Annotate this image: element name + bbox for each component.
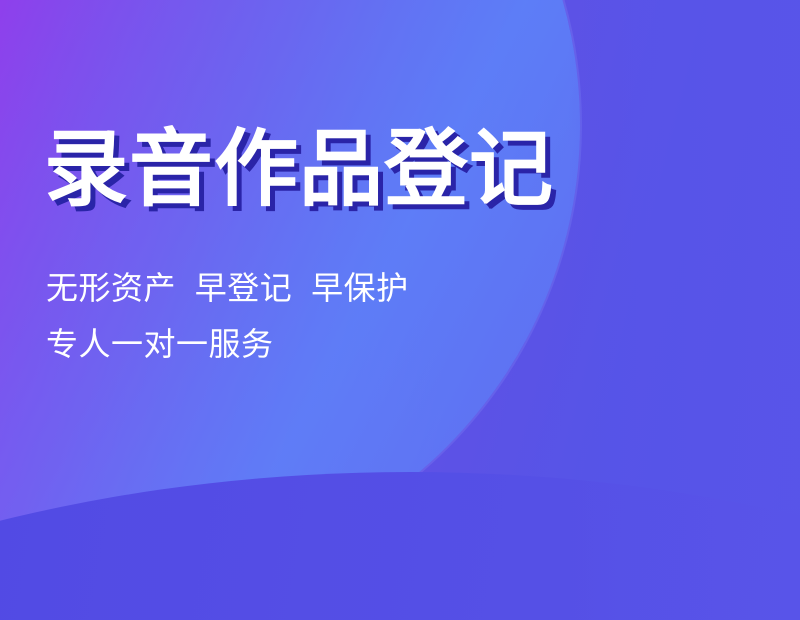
banner-subheadline-2: 专人一对一服务 xyxy=(46,328,274,360)
banner-headline: 录音作品登记 xyxy=(44,127,554,211)
promo-banner: 录音作品登记 无形资产 早登记 早保护 专人一对一服务 xyxy=(0,0,800,620)
banner-content: 录音作品登记 无形资产 早登记 早保护 专人一对一服务 xyxy=(44,0,604,620)
banner-subheadline-1: 无形资产 早登记 早保护 xyxy=(46,272,409,304)
